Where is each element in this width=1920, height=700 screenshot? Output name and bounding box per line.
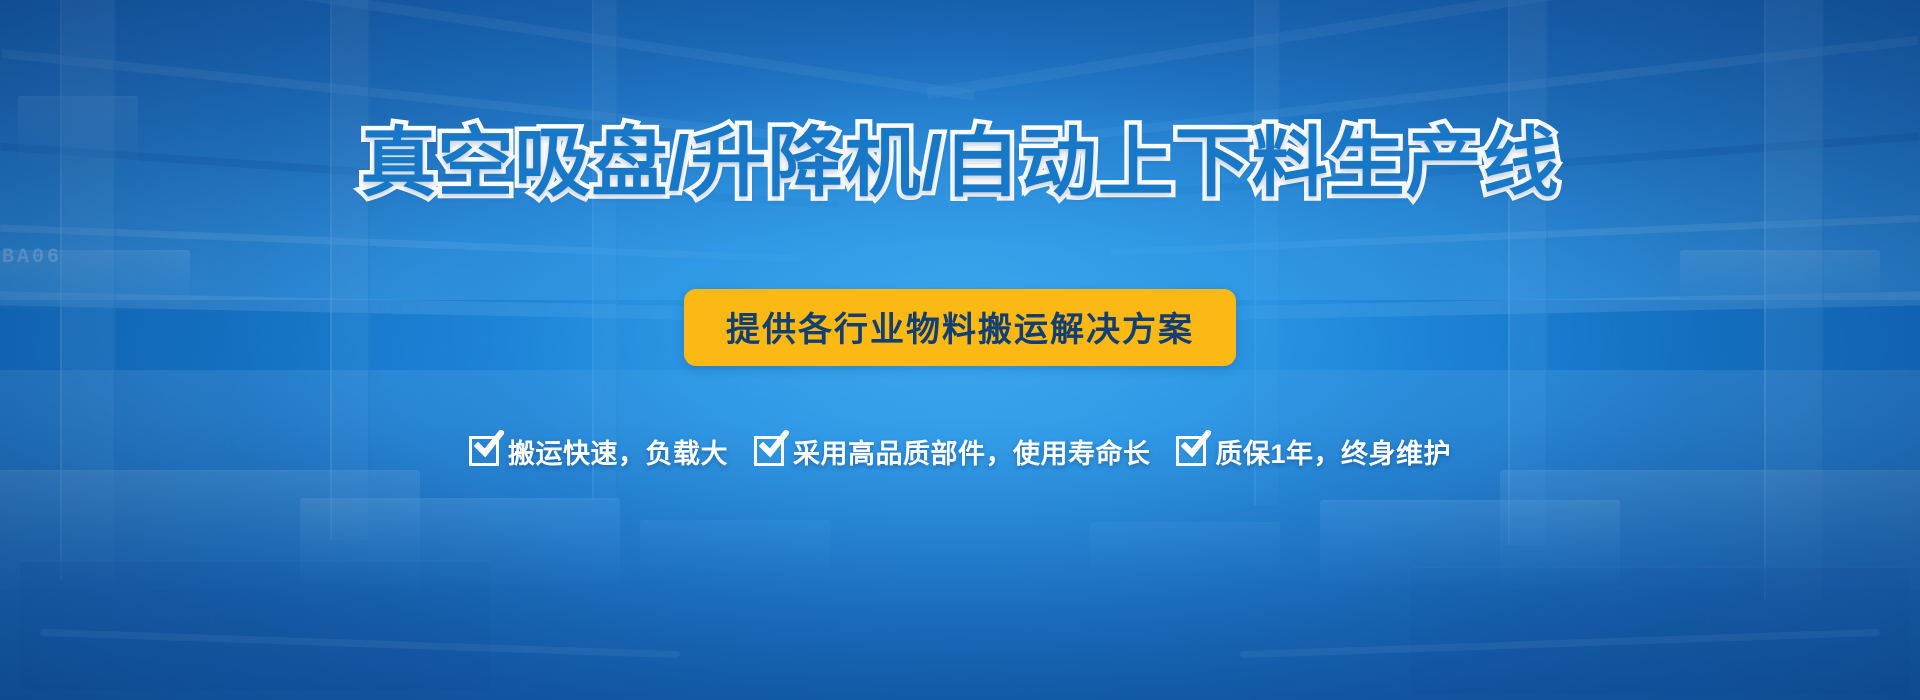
feature-item: 采用高品质部件，使用寿命长 <box>754 432 1151 471</box>
hero-banner: BA06 真空吸盘/升降机/自动上下料生产线 提供各行业物料搬运解决方案 搬运快… <box>0 0 1920 700</box>
checkbox-checked-icon <box>469 436 499 466</box>
checkbox-checked-icon <box>754 436 784 466</box>
feature-list: 搬运快速，负载大 采用高品质部件，使用寿命长 质保1年，终身维护 <box>469 432 1451 471</box>
banner-content: 真空吸盘/升降机/自动上下料生产线 提供各行业物料搬运解决方案 搬运快速，负载大… <box>0 0 1920 700</box>
checkbox-checked-icon <box>1176 436 1206 466</box>
check-mark-icon <box>1181 430 1211 460</box>
feature-label: 采用高品质部件，使用寿命长 <box>793 432 1151 471</box>
feature-item: 质保1年，终身维护 <box>1176 432 1451 471</box>
feature-item: 搬运快速，负载大 <box>469 432 728 471</box>
feature-label: 质保1年，终身维护 <box>1215 432 1451 471</box>
page-title: 真空吸盘/升降机/自动上下料生产线 <box>360 126 1559 202</box>
feature-label: 搬运快速，负载大 <box>508 432 728 471</box>
subtitle-badge: 提供各行业物料搬运解决方案 <box>684 289 1236 366</box>
check-mark-icon <box>759 430 789 460</box>
check-mark-icon <box>474 430 504 460</box>
